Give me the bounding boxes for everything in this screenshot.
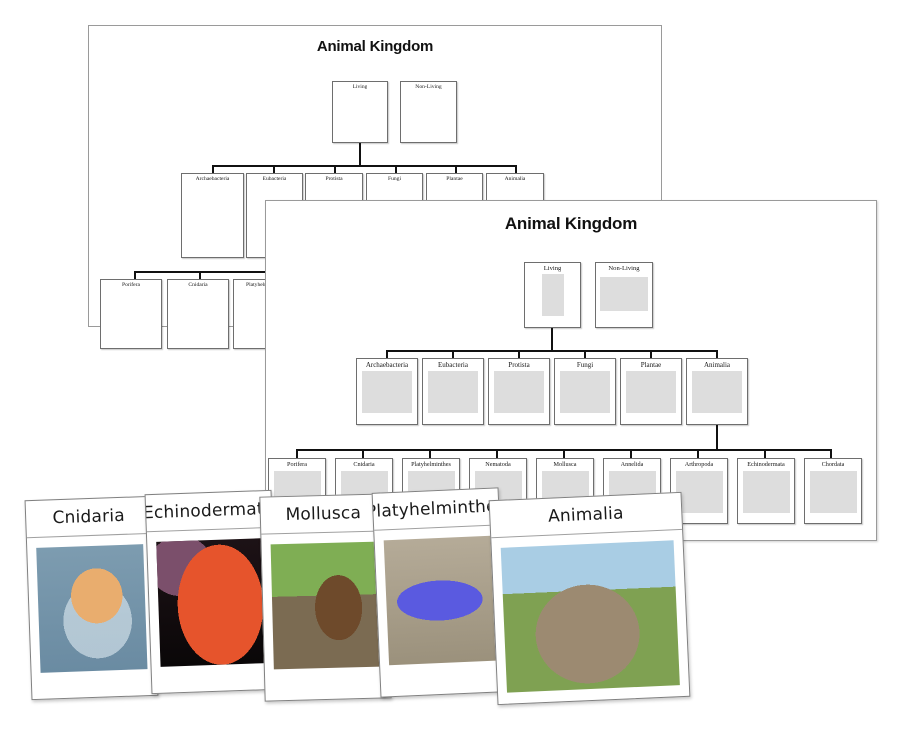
node-kingdom-protista-front[interactable]: Protista	[488, 358, 550, 425]
living-person-image	[542, 274, 564, 316]
node-label: Platyhelminthes	[411, 459, 451, 469]
card-title-bar: Mollusca	[260, 494, 386, 534]
card-title-bar: Cnidaria	[26, 497, 152, 538]
kingdom-image	[560, 371, 610, 413]
node-label: Echinodermata	[747, 459, 784, 469]
kingdom-image	[494, 371, 544, 413]
node-kingdom-fungi-front[interactable]: Fungi	[554, 358, 616, 425]
node-label: Non-Living	[608, 263, 639, 273]
node-label: Archaebacteria	[196, 174, 230, 183]
node-living-front[interactable]: Living	[524, 262, 581, 328]
node-kingdom-eubacteria-front[interactable]: Eubacteria	[422, 358, 484, 425]
node-label: Protista	[508, 359, 529, 369]
card-image	[36, 544, 147, 673]
card-title: Mollusca	[285, 503, 361, 525]
phylum-image	[676, 471, 723, 513]
node-label: Living	[353, 82, 368, 91]
node-label: Mollusca	[553, 459, 576, 469]
card-title: Platyhelminthes	[373, 496, 499, 522]
card-image-wrap	[147, 528, 278, 694]
connector-line	[359, 143, 361, 167]
node-label: Fungi	[388, 174, 401, 183]
node-label: Cnidaria	[188, 280, 207, 289]
node-label: Annelida	[621, 459, 644, 469]
node-kingdom-archaebacteria-back[interactable]: Archaebacteria	[181, 173, 244, 258]
card-image-wrap	[261, 531, 390, 701]
connector-line	[551, 328, 553, 352]
node-phylum-porifera-back[interactable]: Porifera	[100, 279, 162, 349]
node-non-living-back[interactable]: Non-Living	[400, 81, 457, 143]
node-label: Arthropoda	[685, 459, 714, 469]
node-label: Porifera	[122, 280, 140, 289]
node-label: Non-Living	[415, 82, 441, 91]
card-image-wrap	[27, 534, 158, 700]
node-phylum-chordata-front[interactable]: Chordata	[804, 458, 862, 524]
chart-panel-front[interactable]: Animal Kingdom Living Non-Living Archaeb…	[265, 200, 877, 541]
page-title-front: Animal Kingdom	[266, 214, 876, 234]
node-label: Porifera	[287, 459, 307, 469]
card-cnidaria[interactable]: Cnidaria	[25, 496, 159, 700]
kingdom-image	[626, 371, 676, 413]
node-label: Plantae	[446, 174, 462, 183]
card-animalia[interactable]: Animalia	[489, 492, 691, 705]
node-label: Chordata	[822, 459, 845, 469]
node-label: Eubacteria	[263, 174, 287, 183]
card-echinodermata[interactable]: Echinodermata	[145, 490, 279, 694]
node-phylum-cnidaria-back[interactable]: Cnidaria	[167, 279, 229, 349]
node-kingdom-archaebacteria-front[interactable]: Archaebacteria	[356, 358, 418, 425]
non-living-car-image	[600, 277, 648, 311]
node-label: Cnidaria	[353, 459, 374, 469]
node-label: Nematoda	[485, 459, 510, 469]
card-image	[271, 542, 381, 670]
node-label: Protista	[325, 174, 342, 183]
node-label: Animalia	[505, 174, 526, 183]
node-label: Eubacteria	[438, 359, 468, 369]
node-label: Archaebacteria	[366, 359, 408, 369]
card-title-bar: Echinodermata	[146, 491, 272, 532]
node-kingdom-plantae-front[interactable]: Plantae	[620, 358, 682, 425]
card-title: Cnidaria	[52, 506, 125, 529]
card-image-wrap	[491, 530, 689, 705]
node-label: Living	[544, 263, 562, 273]
card-image-wrap	[374, 525, 506, 697]
card-title: Echinodermata	[146, 499, 272, 524]
connector-line	[212, 165, 515, 167]
node-kingdom-animalia-front[interactable]: Animalia	[686, 358, 748, 425]
page-title-back: Animal Kingdom	[89, 38, 661, 55]
connector-line	[386, 350, 716, 352]
node-label: Animalia	[704, 359, 730, 369]
kingdom-image	[362, 371, 412, 413]
kingdom-image	[692, 371, 742, 413]
kingdom-image	[428, 371, 478, 413]
card-image	[501, 540, 680, 692]
node-phylum-echinodermata-front[interactable]: Echinodermata	[737, 458, 795, 524]
card-image	[156, 538, 267, 667]
node-label: Fungi	[577, 359, 593, 369]
phylum-image	[810, 471, 857, 513]
phylum-image	[743, 471, 790, 513]
node-label: Plantae	[641, 359, 662, 369]
card-title-bar: Platyhelminthes	[373, 488, 499, 530]
connector-line	[716, 425, 718, 451]
card-platyhelminthes[interactable]: Platyhelminthes	[372, 487, 508, 697]
card-image	[384, 536, 496, 666]
node-living-back[interactable]: Living	[332, 81, 388, 143]
card-title: Animalia	[548, 503, 624, 526]
node-non-living-front[interactable]: Non-Living	[595, 262, 653, 328]
card-mollusca[interactable]: Mollusca	[259, 493, 391, 701]
